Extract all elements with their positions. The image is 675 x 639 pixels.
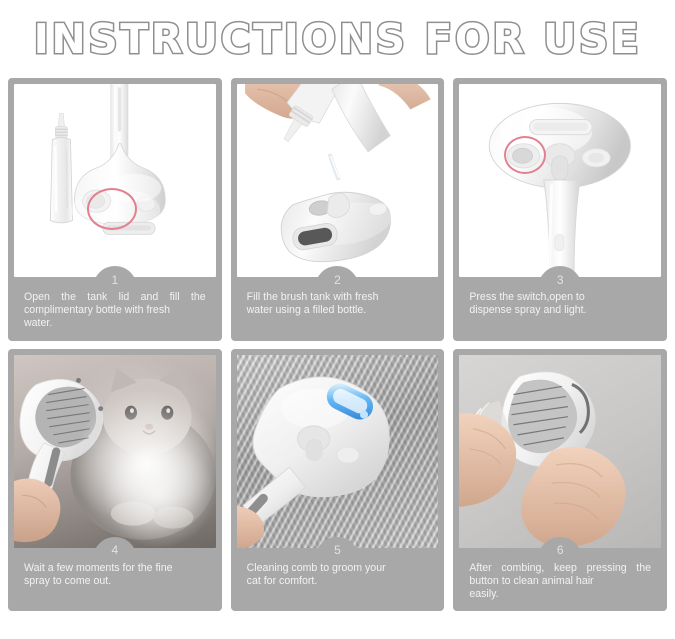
highlight-ring-power-switch <box>504 136 546 174</box>
cat <box>70 366 215 539</box>
brush-base <box>276 184 397 270</box>
filling-tank-illustration <box>237 84 439 277</box>
brush-handle <box>331 84 394 152</box>
step-5-caption-line-2: cat for comfort. <box>247 575 429 588</box>
step-3-caption-line-2: dispense spray and light. <box>469 304 651 317</box>
bottle-and-brush-base-illustration <box>14 84 216 277</box>
step-4-caption-line-2: spray to come out. <box>24 575 206 588</box>
step-2-caption: 2 Fill the brush tank with fresh water u… <box>237 277 439 327</box>
step-3-image <box>459 84 661 277</box>
step-3-caption: 3 Press the switch,open to dispense spra… <box>459 277 661 327</box>
step-1-caption: 1 Open the tank lid and fill the complim… <box>14 277 216 341</box>
step-1-caption-line-3: water. <box>24 317 206 330</box>
step-2-image <box>237 84 439 277</box>
step-5-caption: 5 Cleaning comb to groom your cat for co… <box>237 548 439 598</box>
step-card-3: 3 Press the switch,open to dispense spra… <box>453 78 667 341</box>
spray-on-cat-illustration <box>14 355 216 548</box>
step-card-4: 4 Wait a few moments for the fine spray … <box>8 349 222 612</box>
step-3-caption-line-1: Press the switch,open to <box>469 291 584 303</box>
step-4-caption: 4 Wait a few moments for the fine spray … <box>14 548 216 598</box>
step-6-image <box>459 355 661 548</box>
step-card-6: 6 After combing, keep pressing the butto… <box>453 349 667 612</box>
highlight-ring-tank-lid <box>87 188 137 230</box>
step-1-image <box>14 84 216 277</box>
step-6-caption: 6 After combing, keep pressing the butto… <box>459 548 661 612</box>
step-card-2: 2 Fill the brush tank with fresh water u… <box>231 78 445 341</box>
dropper-bottle <box>50 113 72 222</box>
step-5-caption-line-1: Cleaning comb to groom your <box>247 562 386 574</box>
step-1-caption-line-1: Open the tank lid and fill the <box>24 291 206 303</box>
hand <box>14 478 60 542</box>
press-switch-illustration <box>459 84 661 277</box>
brush-body <box>243 376 389 525</box>
steps-grid: 1 Open the tank lid and fill the complim… <box>8 78 667 611</box>
page-title: INSTRUCTIONS FOR USE <box>34 19 642 60</box>
step-card-5: 5 Cleaning comb to groom your cat for co… <box>231 349 445 612</box>
step-card-1: 1 Open the tank lid and fill the complim… <box>8 78 222 341</box>
step-6-caption-line-3: easily. <box>469 588 651 601</box>
step-6-caption-line-1: After combing, keep pressing <box>469 562 626 574</box>
step-2-caption-line-2: water using a filled bottle. <box>247 304 429 317</box>
step-5-image <box>237 355 439 548</box>
brush-handle <box>544 180 580 277</box>
step-1-caption-line-2: complimentary bottle with fresh <box>24 304 170 316</box>
step-2-caption-line-1: Fill the brush tank with fresh <box>247 291 379 303</box>
clean-hair-illustration <box>459 355 661 548</box>
comb-on-fur-illustration <box>237 355 439 548</box>
instruction-poster: INSTRUCTIONS FOR USE <box>0 0 675 639</box>
step-4-caption-line-1: Wait a few moments for the fine <box>24 562 173 574</box>
page-title-area: INSTRUCTIONS FOR USE <box>0 0 675 78</box>
step-4-image <box>14 355 216 548</box>
